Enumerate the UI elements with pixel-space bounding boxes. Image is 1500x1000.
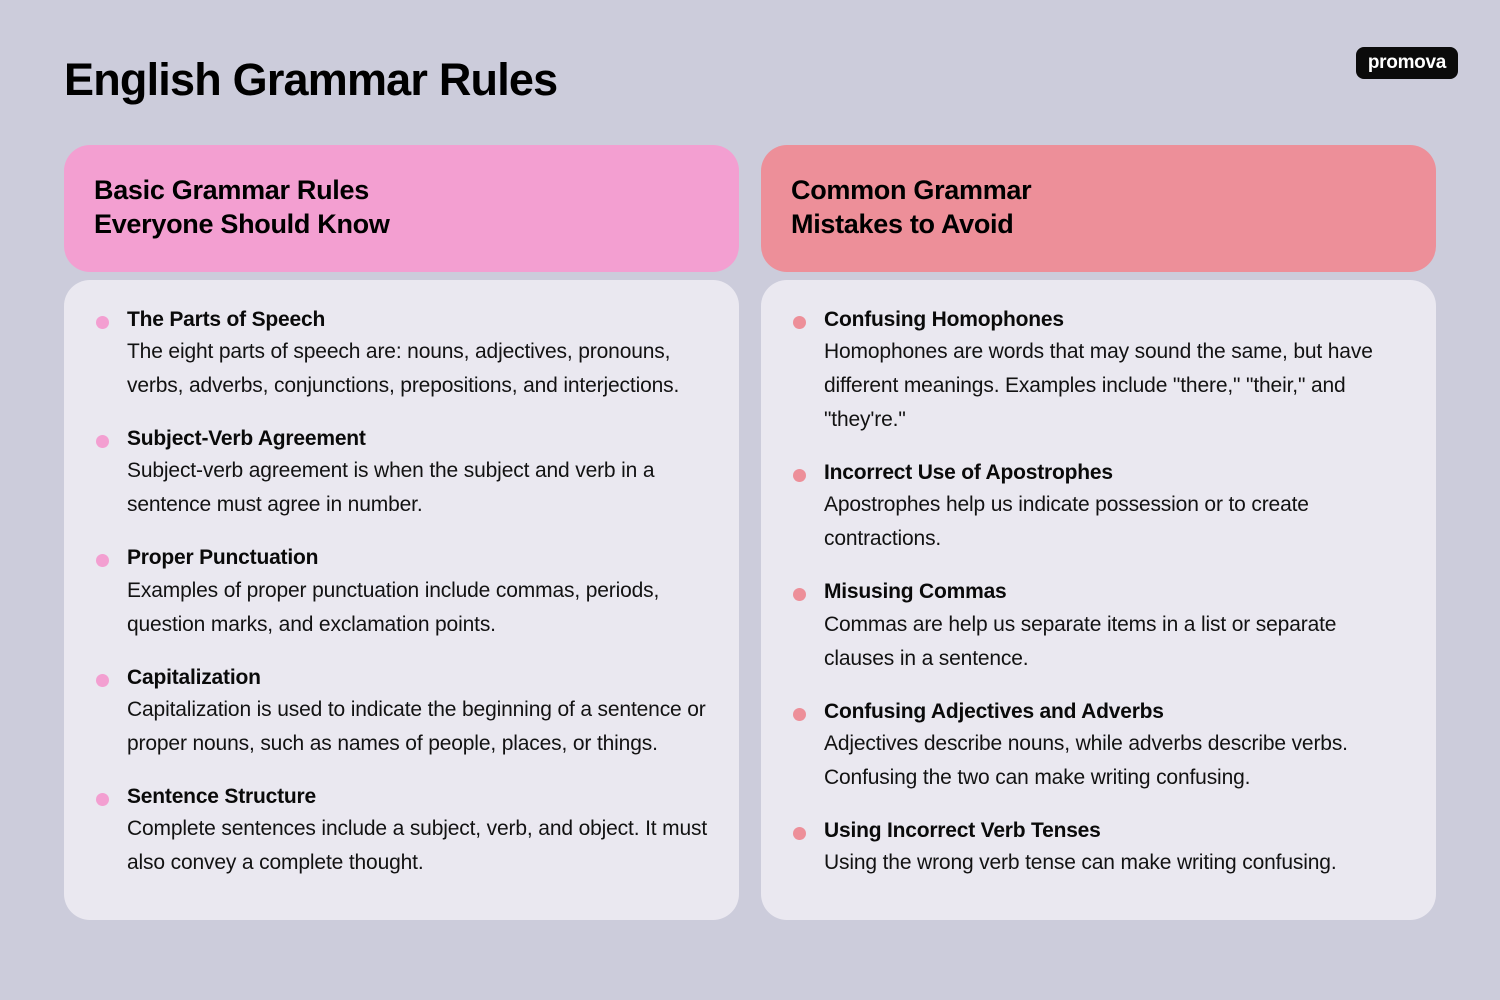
rule-list-basic: The Parts of Speech The eight parts of s… <box>94 306 709 881</box>
rule-description: Apostrophes help us indicate possession … <box>824 488 1406 556</box>
rule-title: Confusing Adjectives and Adverbs <box>824 698 1406 726</box>
column-common-grammar-mistakes: Common Grammar Mistakes to Avoid Confusi… <box>761 145 1436 920</box>
column-header-mistakes-line2: Mistakes to Avoid <box>791 207 1406 241</box>
bullet-dot-icon <box>793 708 806 721</box>
rule-title: Incorrect Use of Apostrophes <box>824 459 1406 487</box>
rule-description: Homophones are words that may sound the … <box>824 335 1406 437</box>
list-item: Misusing Commas Commas are help us separ… <box>791 578 1406 675</box>
rule-description: The eight parts of speech are: nouns, ad… <box>127 335 709 403</box>
bullet-dot-icon <box>793 469 806 482</box>
rule-description: Adjectives describe nouns, while adverbs… <box>824 727 1406 795</box>
promova-logo: promova <box>1356 47 1458 79</box>
page-title: English Grammar Rules <box>64 54 557 106</box>
bullet-dot-icon <box>96 316 109 329</box>
bullet-dot-icon <box>96 554 109 567</box>
rule-description: Examples of proper punctuation include c… <box>127 574 709 642</box>
rule-title: Using Incorrect Verb Tenses <box>824 817 1406 845</box>
bullet-dot-icon <box>793 827 806 840</box>
column-header-basic-line2: Everyone Should Know <box>94 207 709 241</box>
column-header-mistakes: Common Grammar Mistakes to Avoid <box>761 145 1436 272</box>
bullet-dot-icon <box>96 793 109 806</box>
list-item: The Parts of Speech The eight parts of s… <box>94 306 709 403</box>
column-basic-grammar-rules: Basic Grammar Rules Everyone Should Know… <box>64 145 739 920</box>
rule-title: Capitalization <box>127 664 709 692</box>
rule-title: Confusing Homophones <box>824 306 1406 334</box>
rule-title: Misusing Commas <box>824 578 1406 606</box>
rule-list-mistakes: Confusing Homophones Homophones are word… <box>791 306 1406 881</box>
rule-title: The Parts of Speech <box>127 306 709 334</box>
page-header: English Grammar Rules promova <box>0 0 1500 135</box>
bullet-dot-icon <box>793 316 806 329</box>
rule-description: Capitalization is used to indicate the b… <box>127 693 709 761</box>
bullet-dot-icon <box>793 588 806 601</box>
column-body-mistakes: Confusing Homophones Homophones are word… <box>761 280 1436 921</box>
columns-container: Basic Grammar Rules Everyone Should Know… <box>64 145 1436 920</box>
list-item: Confusing Homophones Homophones are word… <box>791 306 1406 437</box>
rule-title: Subject-Verb Agreement <box>127 425 709 453</box>
list-item: Capitalization Capitalization is used to… <box>94 664 709 761</box>
rule-description: Complete sentences include a subject, ve… <box>127 812 709 880</box>
column-header-basic-line1: Basic Grammar Rules <box>94 173 709 207</box>
list-item: Incorrect Use of Apostrophes Apostrophes… <box>791 459 1406 556</box>
rule-title: Proper Punctuation <box>127 544 709 572</box>
list-item: Confusing Adjectives and Adverbs Adjecti… <box>791 698 1406 795</box>
bullet-dot-icon <box>96 674 109 687</box>
rule-description: Commas are help us separate items in a l… <box>824 608 1406 676</box>
bullet-dot-icon <box>96 435 109 448</box>
column-header-mistakes-line1: Common Grammar <box>791 173 1406 207</box>
list-item: Proper Punctuation Examples of proper pu… <box>94 544 709 641</box>
rule-description: Using the wrong verb tense can make writ… <box>824 846 1406 880</box>
column-body-basic: The Parts of Speech The eight parts of s… <box>64 280 739 921</box>
list-item: Using Incorrect Verb Tenses Using the wr… <box>791 817 1406 880</box>
rule-title: Sentence Structure <box>127 783 709 811</box>
rule-description: Subject-verb agreement is when the subje… <box>127 454 709 522</box>
list-item: Sentence Structure Complete sentences in… <box>94 783 709 880</box>
column-header-basic: Basic Grammar Rules Everyone Should Know <box>64 145 739 272</box>
list-item: Subject-Verb Agreement Subject-verb agre… <box>94 425 709 522</box>
